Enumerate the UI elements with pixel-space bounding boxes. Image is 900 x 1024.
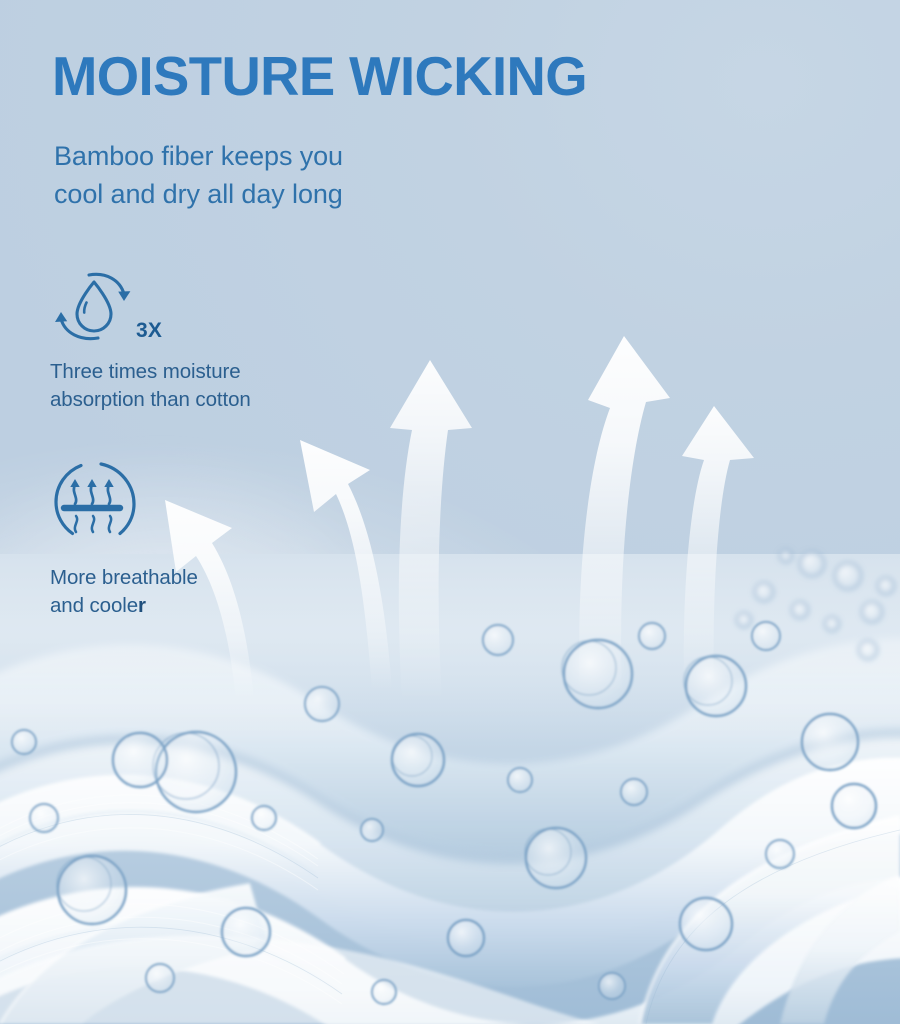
subtitle-line-1: Bamboo fiber keeps you bbox=[54, 137, 343, 175]
feature-moisture-absorption: 3X Three times moisture absorption than … bbox=[50, 268, 251, 414]
feature-1-line-2: absorption than cotton bbox=[50, 386, 251, 414]
page-title: MOISTURE WICKING bbox=[52, 48, 587, 104]
breathability-airflow-icon bbox=[50, 458, 146, 555]
feature-1-line-1: Three times moisture bbox=[50, 358, 251, 386]
feature-breathability: More breathable and cooler bbox=[50, 458, 198, 620]
feature-2-line-1: More breathable bbox=[50, 564, 198, 592]
feature-2-icon-row bbox=[50, 458, 198, 555]
feature-2-line-2-text: and coole bbox=[50, 594, 138, 617]
feature-2-line-2-emphasis: r bbox=[138, 594, 146, 617]
multiplier-label: 3X bbox=[136, 319, 162, 349]
subtitle-line-2: cool and dry all day long bbox=[54, 175, 343, 213]
fabric-weave-texture bbox=[0, 554, 900, 1024]
feature-1-description: Three times moisture absorption than cot… bbox=[50, 358, 251, 414]
feature-1-icon-row: 3X bbox=[50, 268, 251, 349]
feature-2-line-2: and cooler bbox=[50, 592, 198, 620]
feature-2-description: More breathable and cooler bbox=[50, 564, 198, 620]
product-feature-poster: MOISTURE WICKING Bamboo fiber keeps you … bbox=[0, 0, 900, 1024]
water-drop-cycle-icon bbox=[50, 268, 136, 349]
subtitle: Bamboo fiber keeps you cool and dry all … bbox=[54, 137, 343, 214]
